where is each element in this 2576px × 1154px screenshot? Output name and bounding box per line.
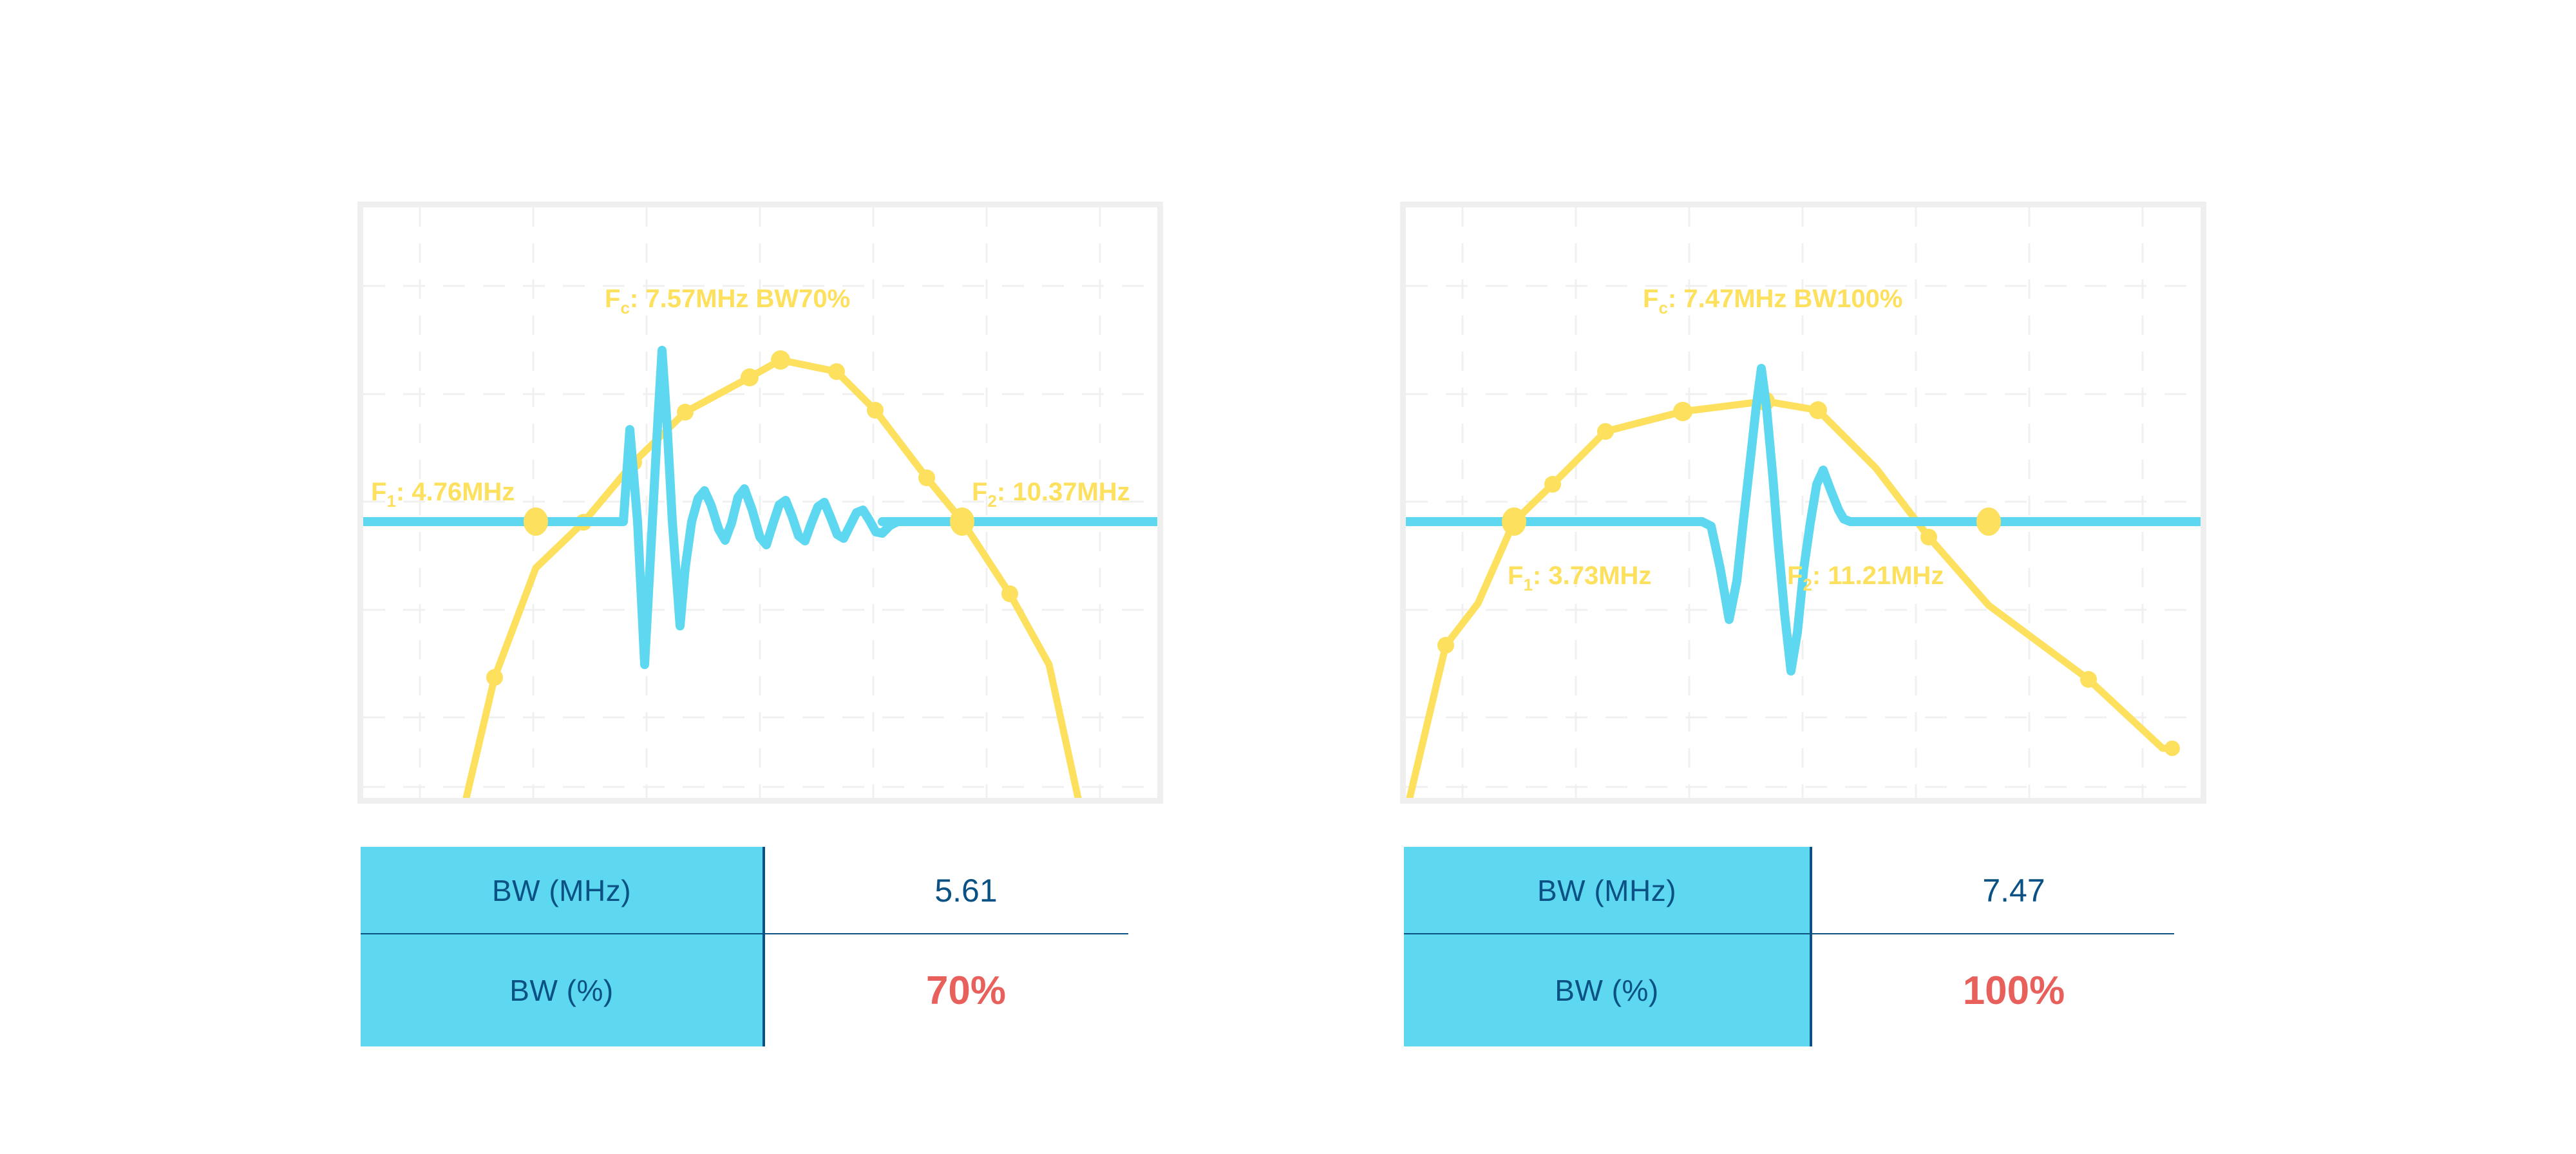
annotation-f2-right: F2: 11.21MHz (1787, 562, 1944, 594)
svg-text:F1: 4.76MHz: F1: 4.76MHz (371, 478, 515, 511)
table-value-text: 5.61 (934, 872, 997, 909)
f2-marker-left (950, 507, 974, 536)
f2-prefix-left: F (972, 478, 987, 506)
f2-sub-right: 2 (1803, 575, 1812, 594)
annotation-center-left: Fc: 7.57MHz BW70% (605, 285, 850, 317)
fc-prefix-right: F (1643, 285, 1658, 313)
table-value-text: 100% (1963, 968, 2065, 1014)
table-label-text: BW (%) (509, 973, 613, 1008)
annotation-center-right: Fc: 7.47MHz BW100% (1643, 285, 1902, 317)
table-row: BW (MHz) 5.61 (361, 847, 1167, 934)
table-cell-value: 70% (765, 934, 1167, 1046)
f2-text-right: : 11.21MHz (1812, 562, 1944, 590)
fc-text-left: : 7.57MHz BW70% (630, 285, 850, 313)
f1-marker-left (524, 507, 548, 536)
bw-table-left: BW (MHz) 5.61 BW (%) 70% (361, 847, 1167, 1046)
f2-sub-left: 2 (987, 491, 996, 511)
f1-prefix-left: F (371, 478, 386, 506)
f1-text-right: : 3.73MHz (1533, 562, 1652, 590)
table-cell-value: 5.61 (765, 847, 1167, 934)
f1-sub-left: 1 (386, 491, 395, 511)
chart-plot-area-left: Fc: 7.57MHz BW70% F1: 4.76MHz F2: 10.37M… (363, 207, 1157, 798)
table-value-text: 70% (926, 968, 1006, 1014)
spectrum-curve-right (1410, 401, 2176, 798)
svg-text:F1: 3.73MHz: F1: 3.73MHz (1508, 562, 1651, 594)
annotation-f2-left: F2: 10.37MHz (972, 478, 1130, 511)
chart-panel-left: Fc: 7.57MHz BW70% F1: 4.76MHz F2: 10.37M… (357, 202, 1163, 804)
table-label-text: BW (%) (1555, 973, 1658, 1008)
fc-prefix-left: F (605, 285, 620, 313)
figure-root: Fc: 7.57MHz BW70% F1: 4.76MHz F2: 10.37M… (0, 0, 2576, 1154)
svg-text:Fc: 7.57MHz BW70%: Fc: 7.57MHz BW70% (605, 285, 850, 317)
f1-marker-right (1502, 507, 1526, 536)
bw-table-right: BW (MHz) 7.47 BW (%) 100% (1404, 847, 2215, 1046)
table-cell-value: 7.47 (1812, 847, 2215, 934)
table-cell-label: BW (%) (361, 934, 765, 1046)
table-value-text: 7.47 (1982, 872, 2045, 909)
table-row: BW (%) 100% (1404, 934, 2215, 1046)
table-row: BW (%) 70% (361, 934, 1167, 1046)
f1-sub-right: 1 (1523, 575, 1532, 594)
f2-marker-right (1976, 507, 2001, 536)
f2-text-left: : 10.37MHz (997, 478, 1130, 506)
f2-prefix-right: F (1787, 562, 1803, 590)
chart-svg-left: Fc: 7.57MHz BW70% F1: 4.76MHz F2: 10.37M… (363, 207, 1157, 798)
chart-svg-right: Fc: 7.47MHz BW100% F1: 3.73MHz F2: 11.21… (1406, 207, 2201, 798)
f1-prefix-right: F (1508, 562, 1523, 590)
chart-panel-right: Fc: 7.47MHz BW100% F1: 3.73MHz F2: 11.21… (1400, 202, 2206, 804)
fc-sub-right: c (1658, 298, 1667, 317)
table-cell-value: 100% (1812, 934, 2215, 1046)
table-row: BW (MHz) 7.47 (1404, 847, 2215, 934)
annotation-f1-left: F1: 4.76MHz (371, 478, 515, 511)
table-cell-label: BW (MHz) (1404, 847, 1812, 934)
table-cell-label: BW (%) (1404, 934, 1812, 1046)
table-label-text: BW (MHz) (1537, 873, 1676, 908)
fc-sub-left: c (620, 298, 629, 317)
f1-text-left: : 4.76MHz (396, 478, 515, 506)
svg-text:Fc: 7.47MHz BW100%: Fc: 7.47MHz BW100% (1643, 285, 1902, 317)
svg-text:F2: 11.21MHz: F2: 11.21MHz (1787, 562, 1944, 594)
chart-plot-area-right: Fc: 7.47MHz BW100% F1: 3.73MHz F2: 11.21… (1406, 207, 2201, 798)
fc-text-right: : 7.47MHz BW100% (1668, 285, 1903, 313)
table-label-text: BW (MHz) (492, 873, 631, 908)
table-cell-label: BW (MHz) (361, 847, 765, 934)
svg-text:F2: 10.37MHz: F2: 10.37MHz (972, 478, 1130, 511)
annotation-f1-right: F1: 3.73MHz (1508, 562, 1651, 594)
